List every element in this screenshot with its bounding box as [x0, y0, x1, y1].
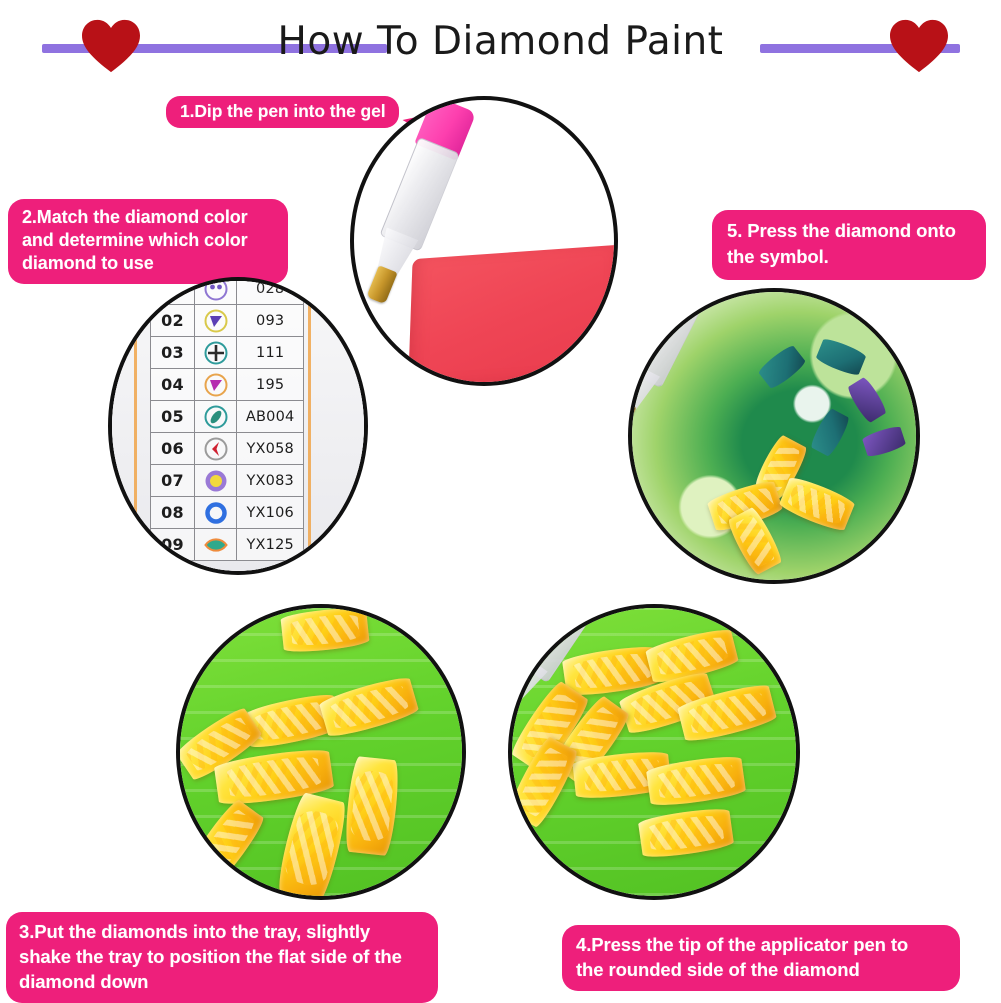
legend-row-code: YX125	[237, 529, 304, 561]
legend-row-symbol	[195, 401, 237, 433]
step-5-photo-inner	[632, 292, 916, 580]
legend-row-code: YX058	[237, 433, 304, 465]
step-5-label: 5. Press the diamond onto the symbol.	[712, 210, 986, 280]
arrow-left-icon	[204, 437, 228, 461]
step-5-label-line-1: 5. Press the diamond onto	[727, 218, 971, 244]
header: How To Diamond Paint	[0, 0, 1001, 80]
step-2-label-line-2: and determine which color	[22, 229, 274, 252]
legend-row: 04 195	[151, 369, 304, 401]
legend-row-number: 07	[151, 465, 195, 497]
circle-dots-icon	[204, 277, 228, 301]
legend-row: 09YX125	[151, 529, 304, 561]
legend-row-number: 05	[151, 401, 195, 433]
step-2-label-line-3: diamond to use	[22, 252, 274, 275]
legend-row: 03 111	[151, 337, 304, 369]
step-2-label: 2.Match the diamond color and determine …	[8, 199, 288, 284]
legend-row-code: 028	[237, 277, 304, 305]
symbol-legend-table: 02802 09303 11104 19505 AB00406 YX05807Y…	[150, 277, 304, 561]
legend-row-code: 195	[237, 369, 304, 401]
legend-row-code: 111	[237, 337, 304, 369]
legend-row: 028	[151, 277, 304, 305]
legend-row-number: 04	[151, 369, 195, 401]
pen-tip	[366, 265, 397, 304]
step-1-photo-inner	[354, 100, 614, 382]
step-3-label: 3.Put the diamonds into the tray, slight…	[6, 912, 438, 1003]
step-1-photo	[350, 96, 618, 386]
legend-row: 08YX106	[151, 497, 304, 529]
legend-row: 07YX083	[151, 465, 304, 497]
infographic-canvas: How To Diamond Paint 1.Dip the pen into …	[0, 0, 1001, 1001]
dot-in-ring-icon	[204, 469, 228, 493]
legend-row-symbol	[195, 277, 237, 305]
step-2-label-line-1: 2.Match the diamond color	[22, 206, 274, 229]
step-4-photo-inner	[512, 608, 796, 896]
step-4-label-line-1: 4.Press the tip of the applicator pen to	[576, 932, 946, 957]
step-4-photo	[508, 604, 800, 900]
step-3-photo	[176, 604, 466, 900]
legend-row-number: 09	[151, 529, 195, 561]
legend-row: 05 AB004	[151, 401, 304, 433]
legend-row: 02 093	[151, 305, 304, 337]
step-5-photo	[628, 288, 920, 584]
step-4-label: 4.Press the tip of the applicator pen to…	[562, 925, 960, 991]
legend-row-number: 03	[151, 337, 195, 369]
step-2-photo-inner: 02802 09303 11104 19505 AB00406 YX05807Y…	[112, 281, 364, 571]
legend-row-symbol	[195, 433, 237, 465]
legend-row: 06 YX058	[151, 433, 304, 465]
guide-line-left	[134, 281, 137, 571]
legend-row-symbol	[195, 465, 237, 497]
legend-row-code: YX083	[237, 465, 304, 497]
plus-cross-icon	[204, 341, 228, 365]
triangle-magenta-icon	[204, 373, 228, 397]
oval-slash-icon	[204, 405, 228, 429]
guide-line-right	[308, 281, 311, 571]
legend-row-number: 02	[151, 305, 195, 337]
legend-row-symbol	[195, 529, 237, 561]
legend-row-number: 06	[151, 433, 195, 465]
legend-row-code: YX106	[237, 497, 304, 529]
step-3-label-line-3: diamond down	[19, 969, 425, 994]
legend-row-number: 08	[151, 497, 195, 529]
gel-pad	[408, 244, 618, 386]
open-ring-icon	[204, 501, 228, 525]
step-3-label-line-2: shake the tray to position the flat side…	[19, 944, 425, 969]
legend-row-symbol	[195, 337, 237, 369]
step-5-label-line-2: the symbol.	[727, 244, 971, 270]
legend-row-symbol	[195, 497, 237, 529]
step-4-label-line-2: the rounded side of the diamond	[576, 957, 946, 982]
step-2-photo: 02802 09303 11104 19505 AB00406 YX05807Y…	[108, 277, 368, 575]
triangle-purple-icon	[204, 309, 228, 333]
step-3-label-line-1: 3.Put the diamonds into the tray, slight…	[19, 919, 425, 944]
legend-row-code: AB004	[237, 401, 304, 433]
page-title: How To Diamond Paint	[0, 20, 1001, 64]
legend-row-symbol	[195, 369, 237, 401]
step-3-photo-inner	[180, 608, 462, 896]
legend-row-code: 093	[237, 305, 304, 337]
leaf-teal-icon	[204, 533, 228, 557]
legend-row-number	[151, 277, 195, 305]
legend-row-symbol	[195, 305, 237, 337]
